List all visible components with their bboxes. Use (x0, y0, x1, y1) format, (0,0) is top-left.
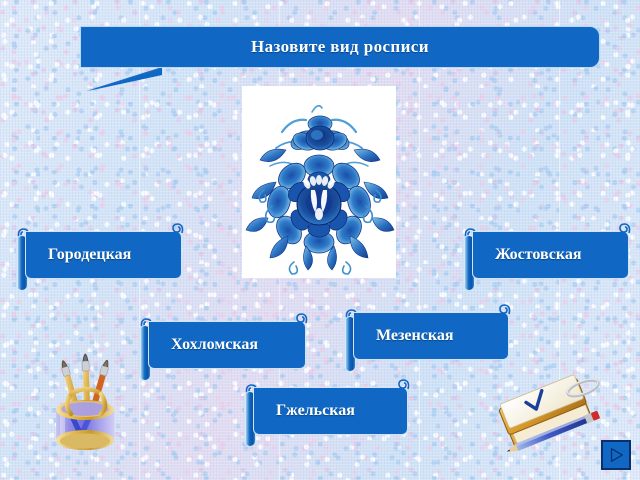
answer-label: Хохломская (149, 336, 258, 354)
question-banner: Назовите вид росписи (80, 26, 600, 68)
answer-option-gzhelskaya[interactable]: Гжельская (244, 387, 408, 443)
answer-panel[interactable]: Гжельская (253, 387, 408, 435)
answer-panel[interactable]: Мезенская (353, 312, 509, 360)
answer-label: Гжельская (254, 402, 355, 420)
title-banner-tail (86, 67, 162, 91)
scroll-curl-right-icon (171, 222, 185, 236)
answer-option-mezenskaya[interactable]: Мезенская (344, 312, 509, 368)
answer-label: Мезенская (354, 327, 453, 345)
answer-label: Городецкая (26, 246, 131, 264)
quiz-slide: Назовите вид росписи (0, 0, 640, 480)
notebooks-with-pencil-illustration (487, 368, 613, 466)
scroll-curl-right-icon (498, 303, 512, 317)
gzhel-painting-image (242, 86, 396, 278)
scroll-curl-right-icon (618, 222, 632, 236)
answer-label: Жостовская (473, 246, 582, 264)
cup-with-paintbrushes-illustration (40, 338, 132, 456)
answer-panel[interactable]: Хохломская (148, 321, 306, 369)
next-slide-button[interactable] (601, 440, 631, 470)
page-title: Назовите вид росписи (251, 37, 429, 57)
answer-option-gorodetskaya[interactable]: Городецкая (16, 231, 182, 287)
play-triangle-icon (607, 446, 625, 464)
answer-option-khokhlomskaya[interactable]: Хохломская (139, 321, 306, 377)
answer-panel[interactable]: Жостовская (472, 231, 629, 279)
scroll-curl-right-icon (295, 312, 309, 326)
scroll-curl-right-icon (397, 378, 411, 392)
answer-option-zhostovskaya[interactable]: Жостовская (463, 231, 629, 287)
answer-panel[interactable]: Городецкая (25, 231, 182, 279)
